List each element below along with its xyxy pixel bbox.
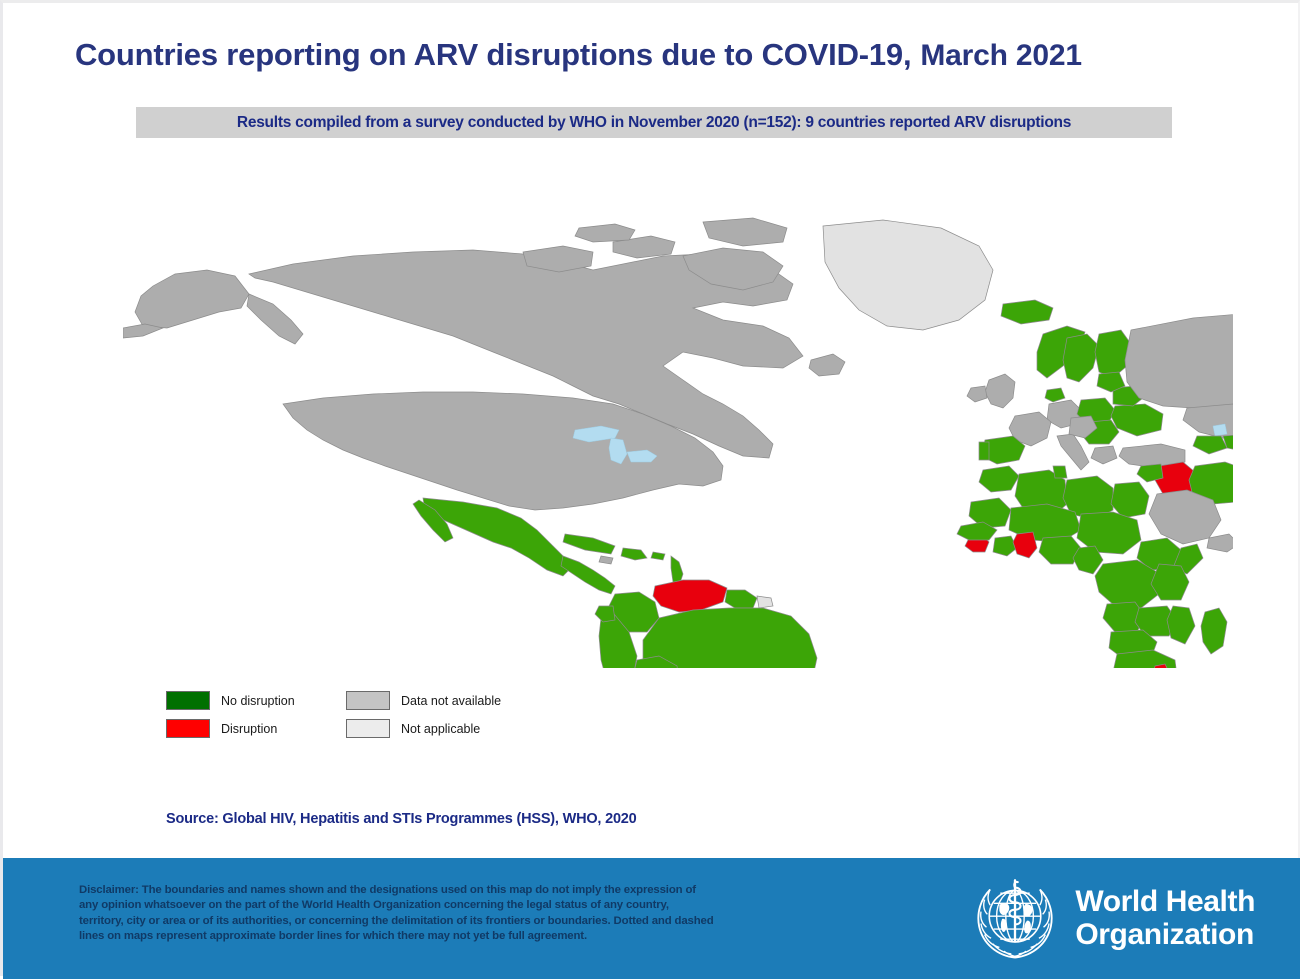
page-title-main: Countries reporting on ARV disruptions d… [75,37,911,72]
country-cuba [563,534,615,554]
country-ecuador [595,606,615,622]
legend-label-disruption: Disruption [221,722,277,736]
subtitle-banner: Results compiled from a survey conducted… [136,107,1172,138]
island-newfoundland [809,354,845,376]
disclaimer-line-2: any opinion whatsoever on the part of th… [79,898,819,913]
legend-swatch-data-not-available [346,691,390,710]
legend-item-not-applicable: Not applicable [346,719,526,738]
country-alaska-panhandle [247,294,303,344]
source-text: Source: Global HIV, Hepatitis and STIs P… [166,811,637,827]
country-iceland [1001,300,1053,324]
country-finland [1095,330,1131,378]
disclaimer-line-1: Disclaimer: The boundaries and names sho… [79,883,819,898]
legend-label-data-not-available: Data not available [401,694,501,708]
country-egypt [1111,482,1149,518]
legend-swatch-disruption [166,719,210,738]
legend-swatch-no-disruption [166,691,210,710]
page-title: Countries reporting on ARV disruptions d… [75,37,1235,73]
country-uk [985,374,1015,408]
country-ireland [967,386,987,402]
who-wordmark: World Health Organization [1075,885,1255,951]
legend-row-1: No disruption Data not available [166,689,586,712]
legend-row-2: Disruption Not applicable [166,717,586,740]
country-hispaniola [621,548,647,560]
legend-swatch-not-applicable [346,719,390,738]
who-emblem-icon [969,872,1061,964]
legend-label-not-applicable: Not applicable [401,722,480,736]
who-wordmark-line2: Organization [1075,918,1255,951]
legend-label-no-disruption: No disruption [221,694,295,708]
country-sweden [1063,334,1099,382]
slide-canvas: Countries reporting on ARV disruptions d… [0,0,1300,976]
lake-aral [1213,424,1227,436]
country-ivory-coast [993,536,1017,556]
country-yemen-oman [1207,534,1233,552]
country-puerto-rico [651,552,665,560]
island-arctic-misc-2 [575,224,635,242]
region-french-guiana [757,596,773,608]
subtitle-text: Results compiled from a survey conducted… [237,114,1071,132]
map-legend: No disruption Data not available Disrupt… [166,689,586,745]
legend-item-disruption: Disruption [166,719,346,738]
island-ellesmere [703,218,787,246]
country-venezuela [653,580,727,612]
country-guyana-suriname [725,590,757,608]
footer-bar: Disclaimer: The boundaries and names sho… [3,858,1300,979]
country-russia [1125,310,1233,408]
country-morocco [979,466,1019,492]
who-logo: World Health Organization [969,872,1255,964]
map-landmasses [123,218,1233,668]
disclaimer-line-4: lines on maps represent approximate bord… [79,929,819,944]
world-map: .g{fill:#3ca507;stroke:#8c8c8c;stroke-wi… [123,208,1233,668]
disclaimer-text: Disclaimer: The boundaries and names sho… [79,883,819,944]
world-map-svg: .g{fill:#3ca507;stroke:#8c8c8c;stroke-wi… [123,208,1233,668]
country-mozambique [1167,606,1195,644]
country-greece [1091,446,1117,464]
country-syria-lebanon [1137,464,1163,482]
country-tunisia [1053,466,1067,478]
country-turkmenistan [1193,436,1227,454]
country-denmark [1045,388,1065,402]
legend-item-data-not-available: Data not available [346,691,526,710]
disclaimer-line-3: territory, city or area or of its author… [79,914,819,929]
island-greenland [823,220,993,330]
country-brazil [643,608,817,668]
country-ghana [1013,532,1037,558]
who-wordmark-line1: World Health [1075,885,1255,918]
country-jamaica [599,556,613,564]
country-madagascar [1201,608,1227,654]
country-italy [1057,434,1089,470]
legend-item-no-disruption: No disruption [166,691,346,710]
country-kazakhstan [1183,404,1233,440]
page-title-date: March 2021 [911,39,1081,72]
country-portugal [979,442,989,460]
country-usa-alaska [135,270,249,328]
country-drc [1095,560,1159,608]
